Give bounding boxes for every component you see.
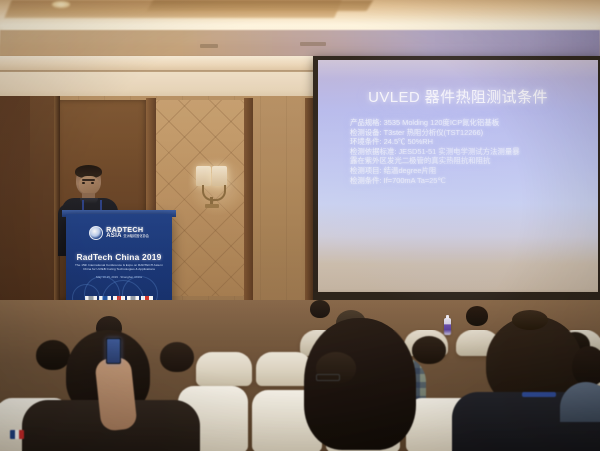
slide-line: 检测项目: 结温degree片阻 [350,166,586,176]
chair [196,352,252,386]
slide-title: UVLED 器件热阻测试条件 [318,86,598,107]
ceiling-coffer-secondary [147,0,373,11]
attendee-head [412,336,446,364]
sconce-backplate [205,204,219,208]
water-bottle [444,318,451,335]
slide-line: 检测条件: If=700mA Ta=25℃ [350,176,586,186]
slide-line: 露在紫外区发光二极管的真实热阻抗和阻抗 [350,156,586,166]
smartphone [106,338,121,364]
ceiling-vent [300,42,326,46]
slide-body: 产品规格: 3535 Molding 120度ICP氮化铝基板 检测设备: T3… [350,118,586,185]
presenter-eye [82,182,85,184]
attendee-head [36,340,70,370]
slide-line: 检测设备: T3ster 热阻分析仪(TST12266) [350,128,586,138]
attendee-lanyard [522,392,556,397]
presenter-eye [91,182,94,184]
ceiling-vent [200,44,218,48]
wall-fabric-panel-right [253,100,309,298]
slide-line: 检测依据标准: JESD51-51 实测电学测试方法测量暴 [350,147,586,157]
attendee-head [160,342,194,372]
ceiling-downlight [52,1,70,8]
flag-badge [10,430,24,439]
slide-line: 产品规格: 3535 Molding 120度ICP氮化铝基板 [350,118,586,128]
conference-hall-photo: UVLED 器件热阻测试条件 产品规格: 3535 Molding 120度IC… [0,0,600,451]
wall-panel-divider [244,98,253,300]
attendee-head [310,300,330,318]
presenter-brow [82,179,95,181]
attendee-hair-bun [512,310,548,330]
sconce-shade-left [196,166,211,186]
attendee-head [572,346,600,386]
projection-screen: UVLED 器件热阻测试条件 产品规格: 3535 Molding 120度IC… [318,60,598,292]
presentation-slide: UVLED 器件热阻测试条件 产品规格: 3535 Molding 120度IC… [318,60,598,292]
slide-line: 环境条件: 24.5℃ 50%RH [350,137,586,147]
attendee-head [466,306,488,326]
sconce-arm [202,185,226,201]
eyeglasses-icon [316,374,340,381]
left-wood-paneling-shadow [0,96,30,308]
attendee-long-hair [304,318,416,450]
attendee-arm [94,356,137,431]
sconce-shade-right [212,166,227,186]
wall-sconce [196,166,234,206]
